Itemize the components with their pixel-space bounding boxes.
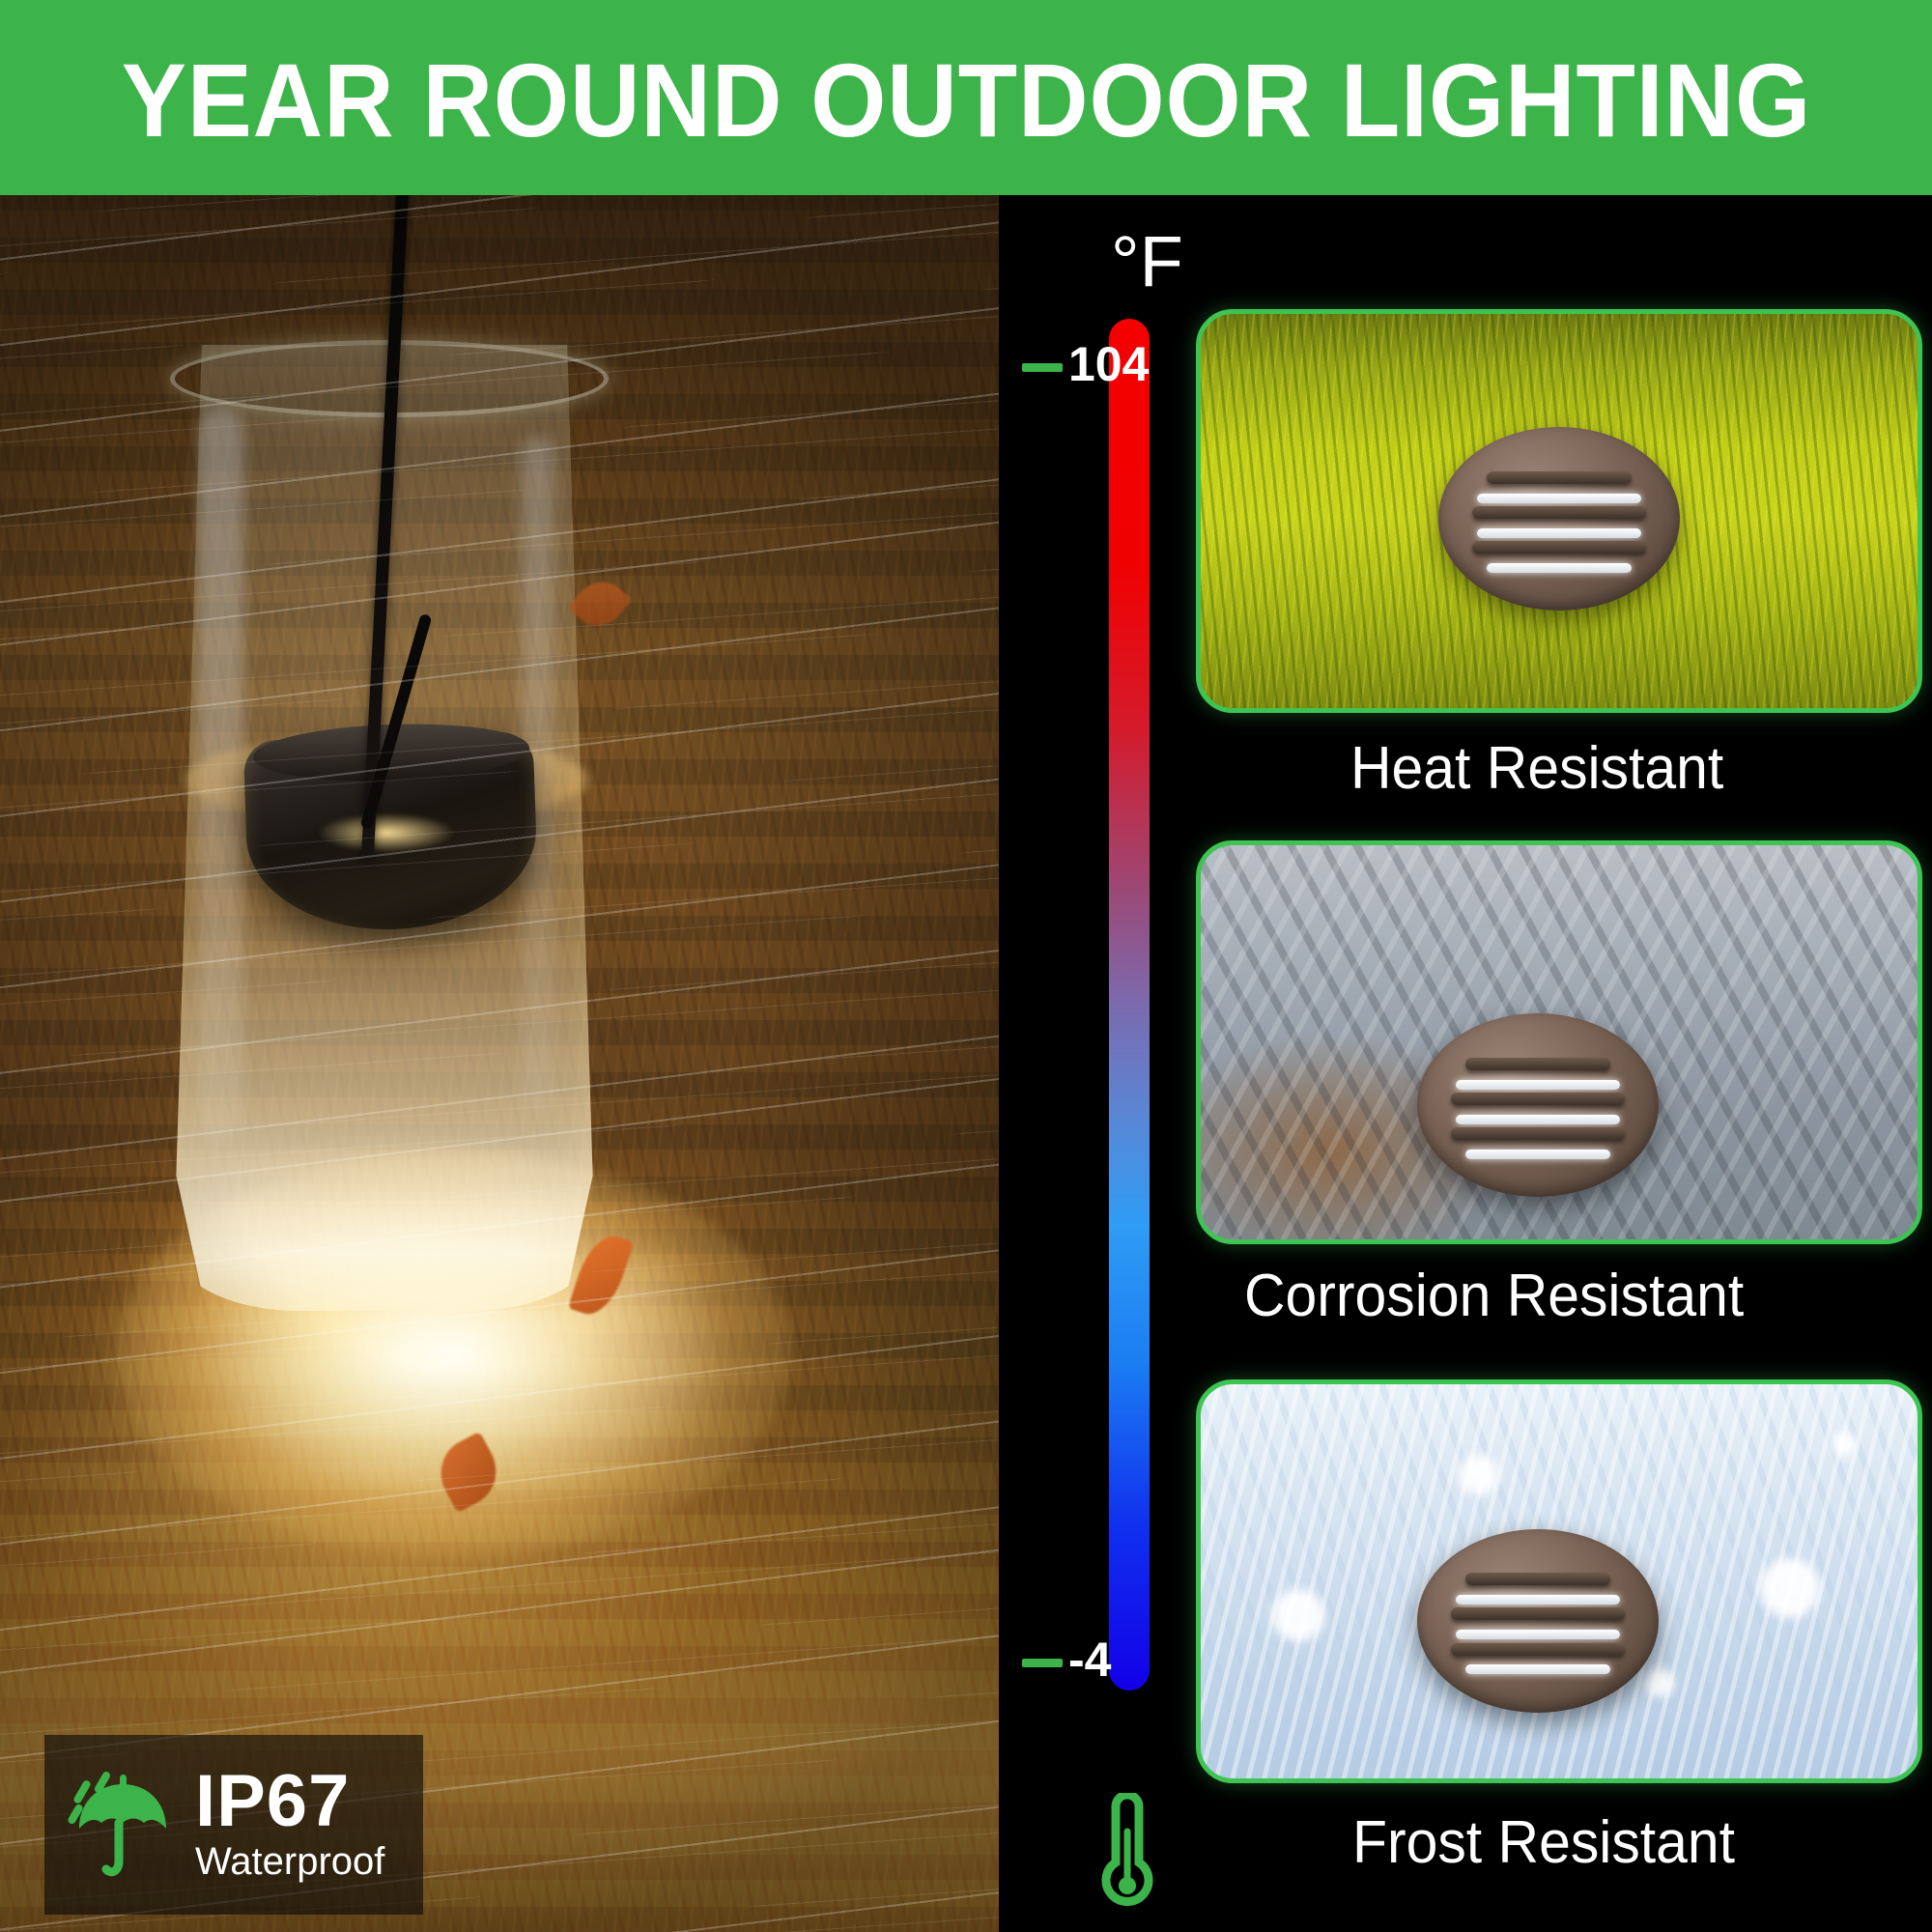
lamp-slat bbox=[1451, 1643, 1625, 1656]
temperature-gradient-bar bbox=[1109, 319, 1150, 1690]
lamp-body bbox=[1438, 427, 1680, 611]
umbrella-icon bbox=[66, 1767, 182, 1883]
lamp-light-slot bbox=[1477, 528, 1641, 538]
lamp-slat bbox=[1472, 506, 1646, 519]
feature-caption-heat: Heat Resistant bbox=[1350, 734, 1723, 803]
ip-rating-label: IP67 bbox=[195, 1767, 384, 1836]
lamp-body bbox=[1417, 1529, 1659, 1713]
temperature-unit-label: °F bbox=[1111, 220, 1227, 302]
header-banner: YEAR ROUND OUTDOOR LIGHTING bbox=[0, 0, 1932, 195]
lamp-light-slot bbox=[1465, 1150, 1610, 1159]
snowflake-bokeh bbox=[1832, 1432, 1857, 1457]
lamp-slat bbox=[1465, 1573, 1610, 1585]
lamp-light-slot bbox=[1456, 1595, 1620, 1605]
frost-scene-image bbox=[1196, 1379, 1922, 1783]
feature-caption-frost: Frost Resistant bbox=[1352, 1808, 1735, 1877]
page-title: YEAR ROUND OUTDOOR LIGHTING bbox=[121, 43, 1810, 153]
snowflake-bokeh bbox=[1459, 1455, 1499, 1495]
corrosion-scene-image bbox=[1196, 840, 1922, 1244]
hero-photo: IP67 Waterproof bbox=[0, 195, 999, 1932]
max-temp-tick bbox=[1022, 363, 1063, 372]
lamp-body bbox=[1417, 1013, 1659, 1197]
rain-streaks bbox=[0, 195, 999, 1932]
min-temp-label: -4 bbox=[1068, 1632, 1111, 1688]
deck-light-fixture bbox=[1417, 1529, 1659, 1713]
lamp-light-slot bbox=[1487, 563, 1632, 573]
thermometer-icon bbox=[1090, 1793, 1165, 1913]
deck-light-fixture bbox=[1417, 1013, 1659, 1197]
snowflake-bokeh bbox=[1760, 1558, 1820, 1618]
heat-scene-image bbox=[1196, 309, 1922, 713]
min-temp-tick bbox=[1022, 1659, 1063, 1667]
lamp-light-slot bbox=[1465, 1664, 1610, 1674]
waterproof-label: Waterproof bbox=[195, 1840, 384, 1883]
feature-card-heat[interactable] bbox=[1196, 309, 1922, 713]
feature-card-frost[interactable] bbox=[1196, 1379, 1922, 1783]
lamp-slat bbox=[1465, 1058, 1610, 1070]
lamp-slat bbox=[1451, 1093, 1625, 1105]
snowflake-bokeh bbox=[1272, 1589, 1324, 1641]
lamp-light-slot bbox=[1456, 1080, 1620, 1090]
lamp-light-slot bbox=[1456, 1115, 1620, 1124]
lamp-slat bbox=[1451, 1607, 1625, 1620]
lamp-slat bbox=[1451, 1127, 1625, 1140]
lamp-slat bbox=[1487, 471, 1632, 484]
feature-caption-corrosion: Corrosion Resistant bbox=[1244, 1262, 1744, 1330]
lamp-light-slot bbox=[1477, 494, 1641, 503]
product-infographic: YEAR ROUND OUTDOOR LIGHTING bbox=[0, 0, 1932, 1932]
ip67-badge: IP67 Waterproof bbox=[44, 1735, 423, 1915]
lamp-slat bbox=[1472, 541, 1646, 554]
deck-light-fixture bbox=[1438, 427, 1680, 611]
feature-card-corrosion[interactable] bbox=[1196, 840, 1922, 1244]
max-temp-label: 104 bbox=[1068, 336, 1149, 392]
lamp-light-slot bbox=[1456, 1630, 1620, 1639]
